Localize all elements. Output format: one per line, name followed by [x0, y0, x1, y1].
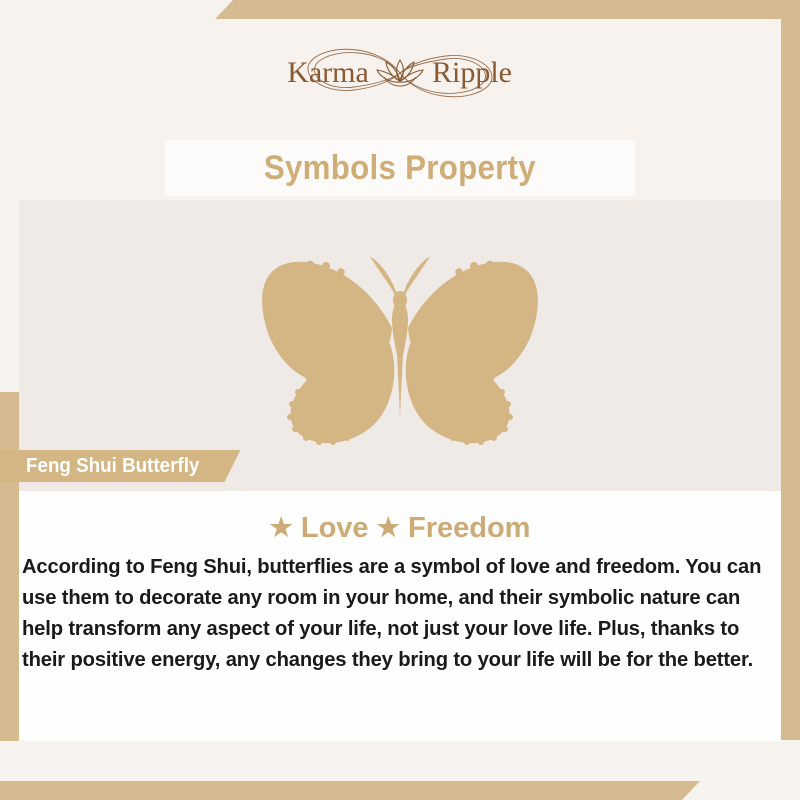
brand-logo-word-left: Karma: [287, 56, 369, 89]
brand-logo-word-right: Ripple: [432, 56, 512, 89]
tag-label: Feng Shui Butterfly: [26, 455, 199, 478]
footer-surface: [0, 741, 800, 781]
page-title-band: Symbols Property: [165, 140, 635, 196]
section-heading: ★ Love ★ Freedom: [0, 512, 800, 545]
page-title: Symbols Property: [264, 149, 536, 188]
brand-logo-graphic: Karma Ripple: [250, 36, 550, 110]
frame-bottom-accent-band: [0, 781, 700, 800]
feng-shui-butterfly-tag: Feng Shui Butterfly: [0, 450, 240, 482]
heading-word-freedom: Freedom: [408, 512, 530, 544]
star-icon-left: ★: [270, 512, 293, 542]
heading-word-love: Love: [301, 512, 369, 544]
butterfly-icon: [220, 232, 580, 452]
brand-logo: Karma Ripple: [0, 36, 800, 110]
star-icon-right: ★: [377, 512, 400, 542]
frame-top-accent-band: [215, 0, 800, 19]
poster-page: Karma Ripple Symbols Property: [0, 0, 800, 800]
description-paragraph: According to Feng Shui, butterflies are …: [22, 552, 782, 676]
butterfly-illustration: [0, 228, 800, 456]
